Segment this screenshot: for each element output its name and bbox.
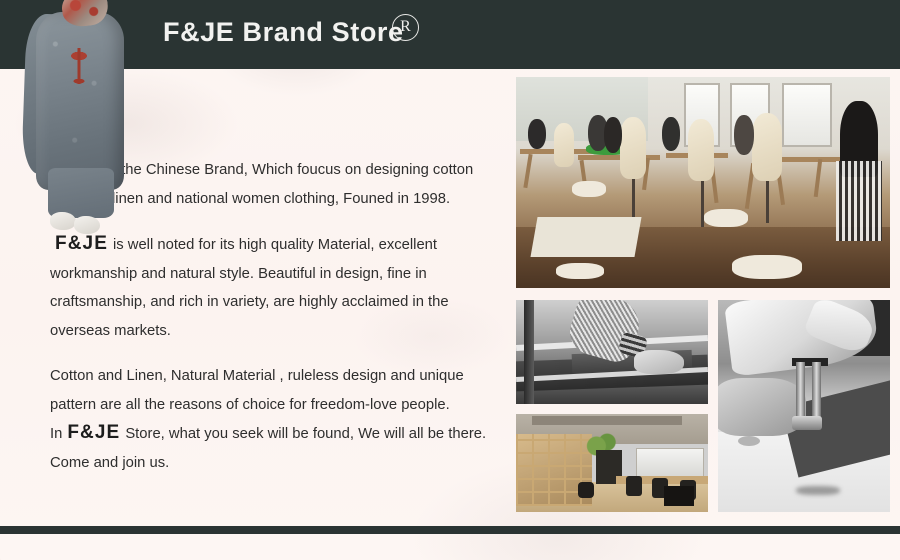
studio-window — [636, 448, 704, 478]
model-dress — [36, 12, 124, 190]
model-embroidery-motif — [66, 48, 92, 84]
paragraph-2: F&JEis well noted for its high quality M… — [50, 230, 495, 345]
cutting-machine-post — [524, 300, 534, 404]
atelier-cloth — [704, 209, 748, 227]
model-shoe-left — [50, 212, 76, 230]
atelier-cloth — [556, 263, 604, 279]
sewing-presser-foot — [792, 416, 822, 430]
footer-divider-bar — [0, 526, 900, 534]
dress-form-3 — [688, 119, 714, 181]
atelier-floor-mat — [530, 217, 641, 257]
sewing-machine-photo — [718, 300, 890, 512]
atelier-cloth — [732, 255, 802, 279]
dress-form-1 — [554, 123, 574, 167]
studio-monitor — [664, 486, 694, 506]
atelier-person — [604, 117, 622, 153]
studio-chair — [626, 476, 642, 496]
model-shoe-right — [74, 216, 100, 234]
paragraph-1-text: , the Chinese Brand, Which foucus on des… — [112, 162, 473, 207]
sewing-bobbin-plate — [738, 436, 760, 446]
atelier-person — [662, 117, 680, 151]
dress-form-4 — [752, 113, 782, 181]
studio-interior-photo — [516, 414, 708, 512]
dress-form-2 — [620, 117, 646, 179]
model-pants — [48, 168, 114, 218]
dress-form-stand — [766, 181, 769, 223]
sewing-presser-bar — [812, 362, 821, 418]
atelier-scene — [516, 77, 890, 288]
cutting-worker-hand — [634, 350, 684, 374]
brand-mark-3: F&JE — [62, 422, 125, 443]
studio-planter — [578, 482, 594, 498]
atelier-window-3 — [782, 83, 832, 147]
paragraph-1: F&JE, the Chinese Brand, Which foucus on… — [112, 155, 495, 213]
atelier-person — [528, 119, 546, 149]
paragraph-3: Cotton and Linen, Natural Material , rul… — [50, 362, 495, 477]
atelier-cloth — [572, 181, 606, 197]
atelier-checked-dress — [836, 161, 882, 241]
page-title: F&JE Brand Store — [163, 17, 404, 48]
fabric-cutting-photo — [516, 300, 708, 404]
atelier-trestle-leg — [523, 154, 532, 188]
atelier-workshop-photo — [516, 77, 890, 288]
atelier-trestle-leg — [814, 159, 823, 197]
dress-form-stand — [632, 179, 635, 217]
sewing-needle-bar — [796, 362, 805, 418]
model-photo-cutout — [22, 0, 140, 245]
atelier-person — [734, 115, 754, 155]
sewing-foreground-blur — [796, 486, 840, 495]
registered-trademark-icon: R — [392, 14, 419, 41]
brand-store-banner: F&JE Brand Store R F&JE, the Chinese Bra… — [0, 0, 900, 560]
studio-beam — [532, 416, 682, 425]
